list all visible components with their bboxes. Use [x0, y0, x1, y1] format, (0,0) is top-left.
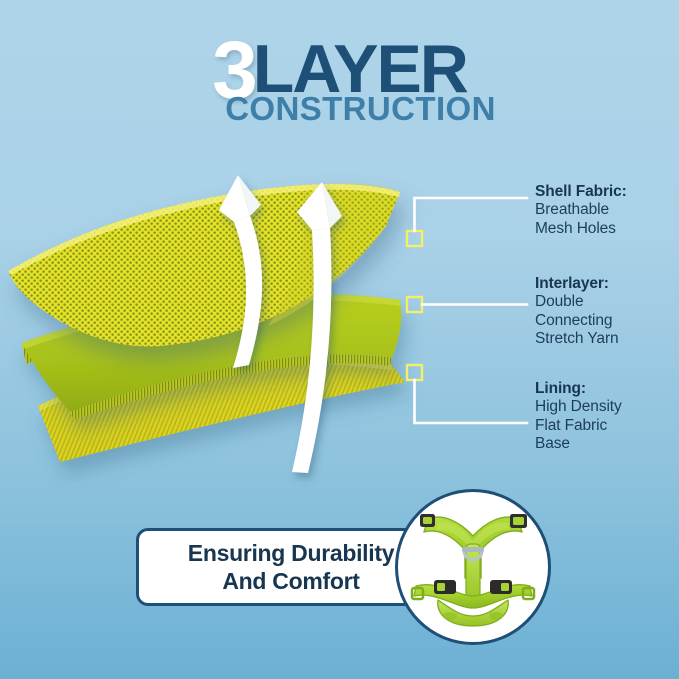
- dog-harness-icon: [398, 492, 548, 642]
- callout-shell-heading: Shell Fabric:: [535, 183, 679, 201]
- title-subtitle: CONSTRUCTION: [0, 92, 679, 125]
- layer-stack-illustration: [0, 150, 450, 490]
- page-title: 3LAYER CONSTRUCTION: [0, 30, 679, 125]
- product-image-circle: [395, 489, 551, 645]
- callout-lining-body: High Density Flat Fabric Base: [535, 398, 679, 454]
- callout-interlayer-body: Double Connecting Stretch Yarn: [535, 293, 679, 349]
- callout-lining: Lining: High Density Flat Fabric Base: [535, 380, 679, 454]
- title-main-row: 3LAYER: [0, 30, 679, 96]
- callout-interlayer: Interlayer: Double Connecting Stretch Ya…: [535, 275, 679, 349]
- callout-shell-fabric: Shell Fabric: Breathable Mesh Holes: [535, 183, 679, 238]
- callout-shell-body: Breathable Mesh Holes: [535, 201, 679, 238]
- tagline-text: Ensuring Durability And Comfort: [180, 539, 402, 595]
- callout-lining-heading: Lining:: [535, 380, 679, 398]
- infographic-root: 3LAYER CONSTRUCTION: [0, 0, 679, 679]
- callout-interlayer-heading: Interlayer:: [535, 275, 679, 293]
